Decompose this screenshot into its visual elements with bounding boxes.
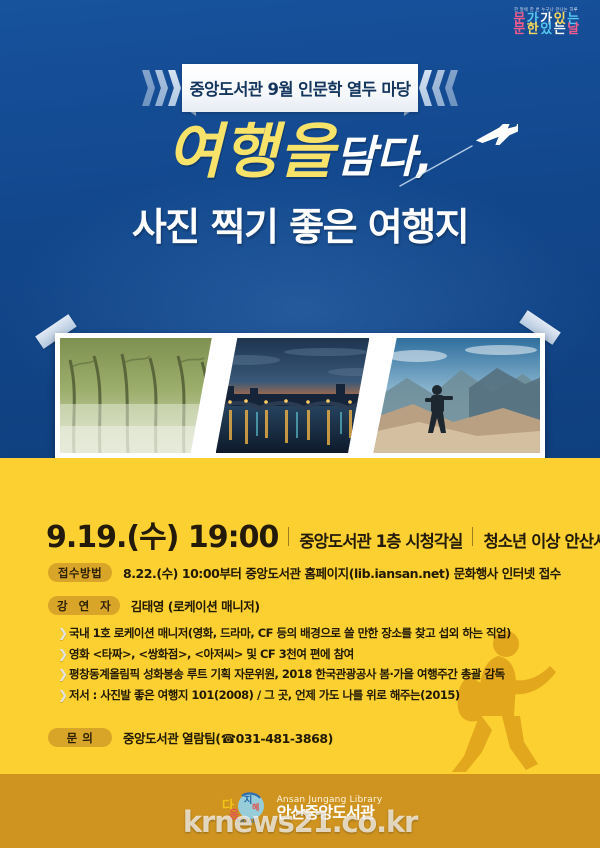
event-datetime-row: 9.19.(수) 19:00 중앙도서관 1층 시청각실 청소년 이상 안산시민 xyxy=(46,512,600,556)
divider xyxy=(472,527,473,546)
headline-script-tail: 담다, xyxy=(335,132,433,183)
ribbon-title: 중앙도서관 9월 인문학 열두 마당 xyxy=(190,76,411,100)
chevron-right-icon: ❯ xyxy=(58,626,69,641)
list-item: ❯ 영화 <타짜>, <쌍화점>, <아저씨> 및 CF 3천여 편에 참여 xyxy=(58,647,558,662)
event-venue: 중앙도서관 1층 시청각실 xyxy=(299,528,462,552)
library-logo: 지 혜 다 음 ANSAN Ansan Jungang Library 안산중앙… xyxy=(218,790,383,828)
svg-text:ANSAN: ANSAN xyxy=(236,818,257,825)
poster-details-panel: 9.19.(수) 19:00 중앙도서관 1층 시청각실 청소년 이상 안산시민… xyxy=(0,458,600,774)
speaker-text: 김태영 (로케이션 매니저) xyxy=(131,596,260,615)
list-item-text: 평창동계올림픽 성화봉송 루트 기획 자문위원, 2018 한국관광공사 봄·가… xyxy=(69,667,505,681)
contact-text: 중앙도서관 열람팀(☎031-481-3868) xyxy=(123,728,333,747)
badge-apply-method: 접수방법 xyxy=(48,563,112,582)
library-logo-mark-icon: 지 혜 다 음 ANSAN xyxy=(218,790,270,828)
culture-day-logo-line2: 문한있는날 xyxy=(504,24,588,36)
apply-method-text: 8.22.(수) 10:00부터 중앙도서관 홈페이지(lib.iansan.n… xyxy=(123,563,561,582)
collage-photo-photographer xyxy=(373,338,540,453)
divider xyxy=(288,527,289,546)
photo-collage xyxy=(55,333,545,458)
chevron-right-icon: ❯ xyxy=(58,688,69,703)
event-date: 9.19.(수) 19:00 xyxy=(46,512,278,556)
culture-day-tagline: 한 달에 한 번 누구나 만나는 하루 xyxy=(504,8,588,13)
badge-contact: 문 의 xyxy=(48,728,112,747)
list-item-text: 국내 1호 로케이션 매니저(영화, 드라마, CF 등의 배경으로 쓸 만한 … xyxy=(69,626,511,640)
poster-footer: 지 혜 다 음 ANSAN Ansan Jungang Library 안산중앙… xyxy=(0,774,600,848)
headline-script-line: 여행을담다, xyxy=(167,122,433,182)
event-audience: 청소년 이상 안산시민 xyxy=(483,528,600,552)
chevron-right-icon: ❯ xyxy=(58,647,69,662)
speaker-bio-list: ❯ 국내 1호 로케이션 매니저(영화, 드라마, CF 등의 배경으로 쓸 만… xyxy=(58,626,558,708)
collage-photo-bridge-night xyxy=(216,338,370,453)
list-item: ❯ 저서 : 사진발 좋은 여행지 101(2008) / 그 곳, 언제 가도… xyxy=(58,688,558,703)
ribbon-banner: 중앙도서관 9월 인문학 열두 마당 xyxy=(140,64,460,112)
library-name-ko: 안산중앙도서관 xyxy=(277,805,383,822)
headline-subtitle: 사진 찍기 좋은 여행지 xyxy=(0,196,600,251)
svg-text:혜: 혜 xyxy=(252,802,259,812)
headline-script-main: 여행을 xyxy=(167,117,336,187)
info-row-speaker: 강 연 자 김태영 (로케이션 매니저) xyxy=(48,596,260,615)
collage-photo-forest xyxy=(60,338,212,453)
info-row-contact: 문 의 중앙도서관 열람팀(☎031-481-3868) xyxy=(48,728,333,747)
chevron-right-icon: ❯ xyxy=(58,667,69,682)
badge-speaker: 강 연 자 xyxy=(48,596,120,615)
info-row-apply: 접수방법 8.22.(수) 10:00부터 중앙도서관 홈페이지(lib.ian… xyxy=(48,563,561,582)
library-logo-text: Ansan Jungang Library 안산중앙도서관 xyxy=(277,796,383,822)
headline-block: 여행을담다, 사진 찍기 좋은 여행지 xyxy=(0,122,600,251)
list-item: ❯ 국내 1호 로케이션 매니저(영화, 드라마, CF 등의 배경으로 쓸 만… xyxy=(58,626,558,641)
list-item-text: 영화 <타짜>, <쌍화점>, <아저씨> 및 CF 3천여 편에 참여 xyxy=(69,647,354,661)
ribbon-plate: 중앙도서관 9월 인문학 열두 마당 xyxy=(182,64,418,112)
event-poster: 한 달에 한 번 누구나 만나는 하루 문가가 있는 문한있는날 중앙도서관 9… xyxy=(0,0,600,848)
culture-day-logo: 한 달에 한 번 누구나 만나는 하루 문가가 있는 문한있는날 xyxy=(504,8,588,52)
list-item: ❯ 평창동계올림픽 성화봉송 루트 기획 자문위원, 2018 한국관광공사 봄… xyxy=(58,667,558,682)
list-item-text: 저서 : 사진발 좋은 여행지 101(2008) / 그 곳, 언제 가도 나… xyxy=(69,688,460,702)
